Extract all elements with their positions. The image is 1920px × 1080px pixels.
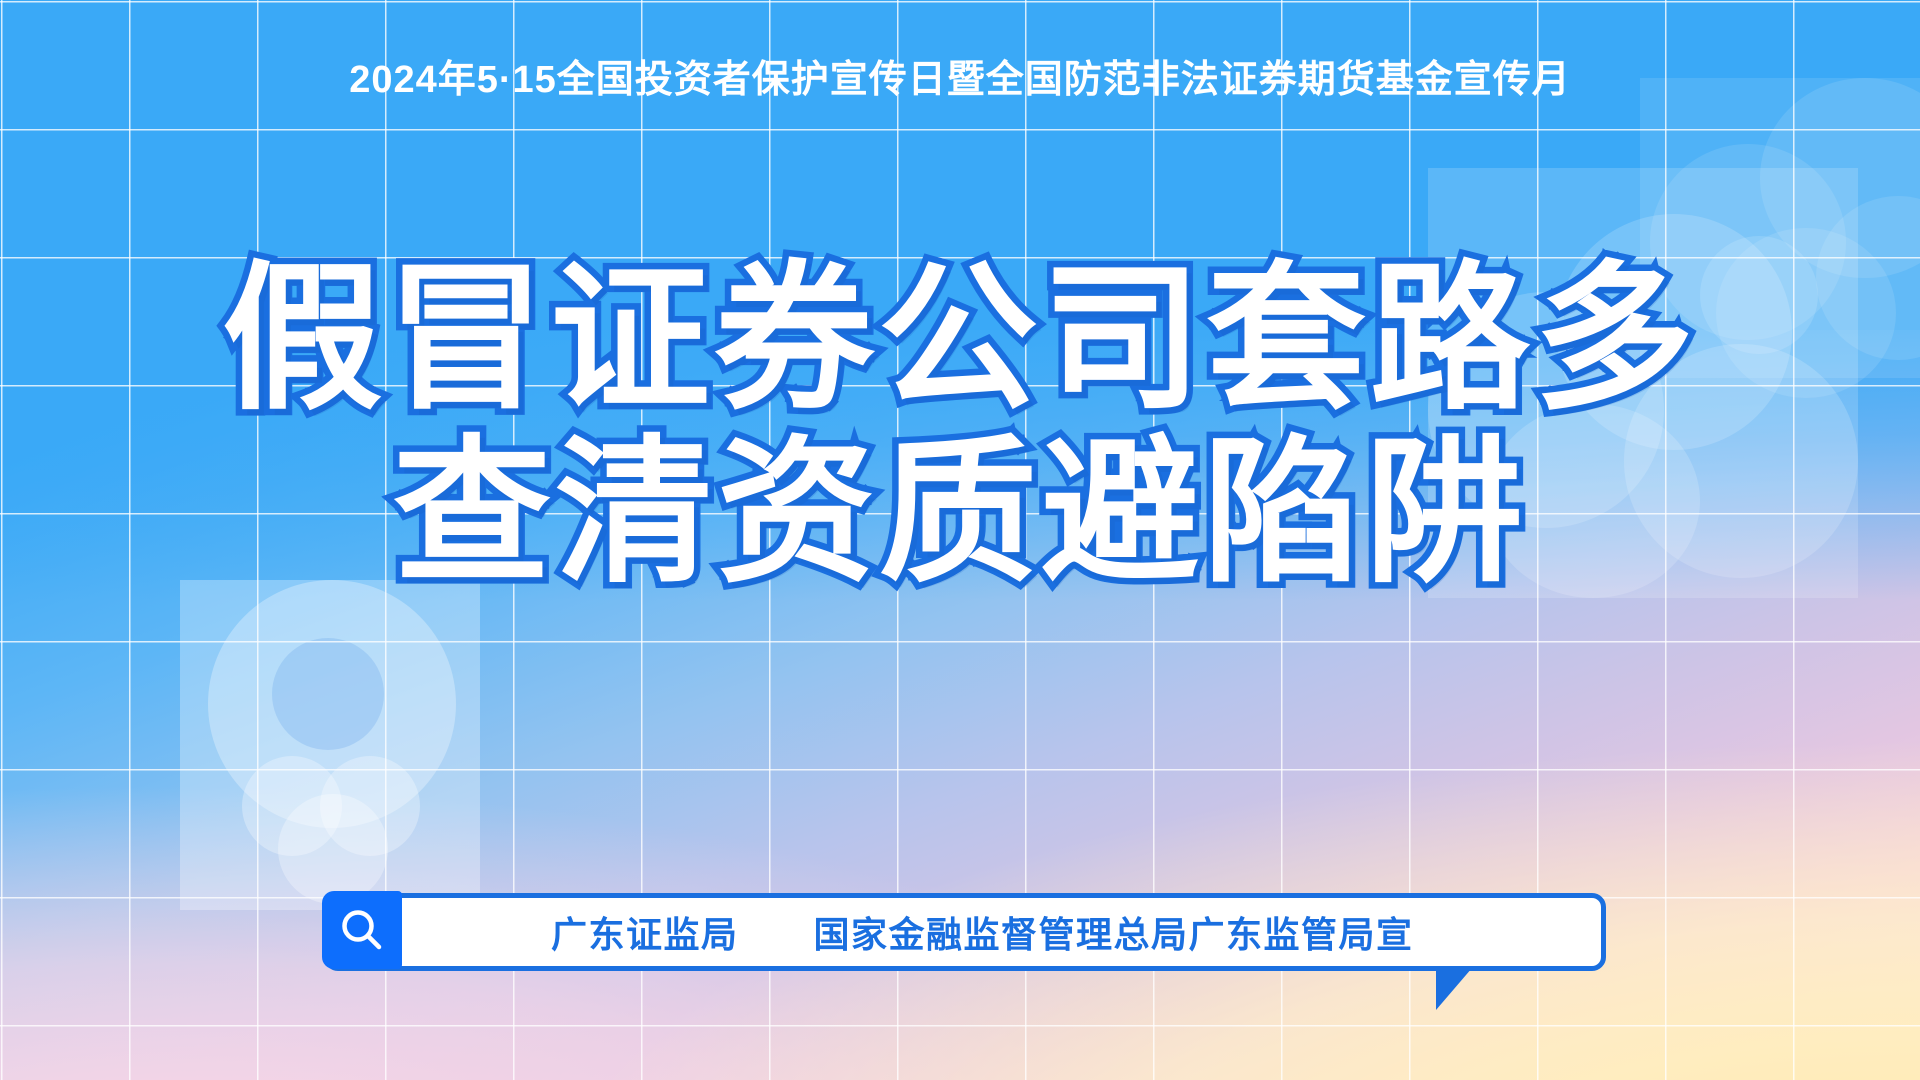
poster-content: 2024年5·15全国投资者保护宣传日暨全国防范非法证券期货基金宣传月 假冒证券… <box>0 0 1920 1080</box>
banner-tail <box>1436 968 1472 1010</box>
banner-body: 广东证监局 国家金融监督管理总局广东监管局宣 <box>324 893 1606 971</box>
headline-line-1: 假冒证券公司套路多 <box>0 245 1920 434</box>
headline-block: 假冒证券公司套路多 查清资质避陷阱 <box>0 245 1920 606</box>
headline-line-2: 查清资质避陷阱 <box>0 420 1920 606</box>
campaign-kicker: 2024年5·15全国投资者保护宣传日暨全国防范非法证券期货基金宣传月 <box>0 60 1920 102</box>
search-icon <box>322 891 402 969</box>
agency-banner: 广东证监局 国家金融监督管理总局广东监管局宣 <box>324 893 1606 971</box>
agency-names: 广东证监局 国家金融监督管理总局广东监管局宣 <box>415 898 1591 966</box>
poster-canvas: 2024年5·15全国投资者保护宣传日暨全国防范非法证券期货基金宣传月 假冒证券… <box>0 0 1920 1080</box>
